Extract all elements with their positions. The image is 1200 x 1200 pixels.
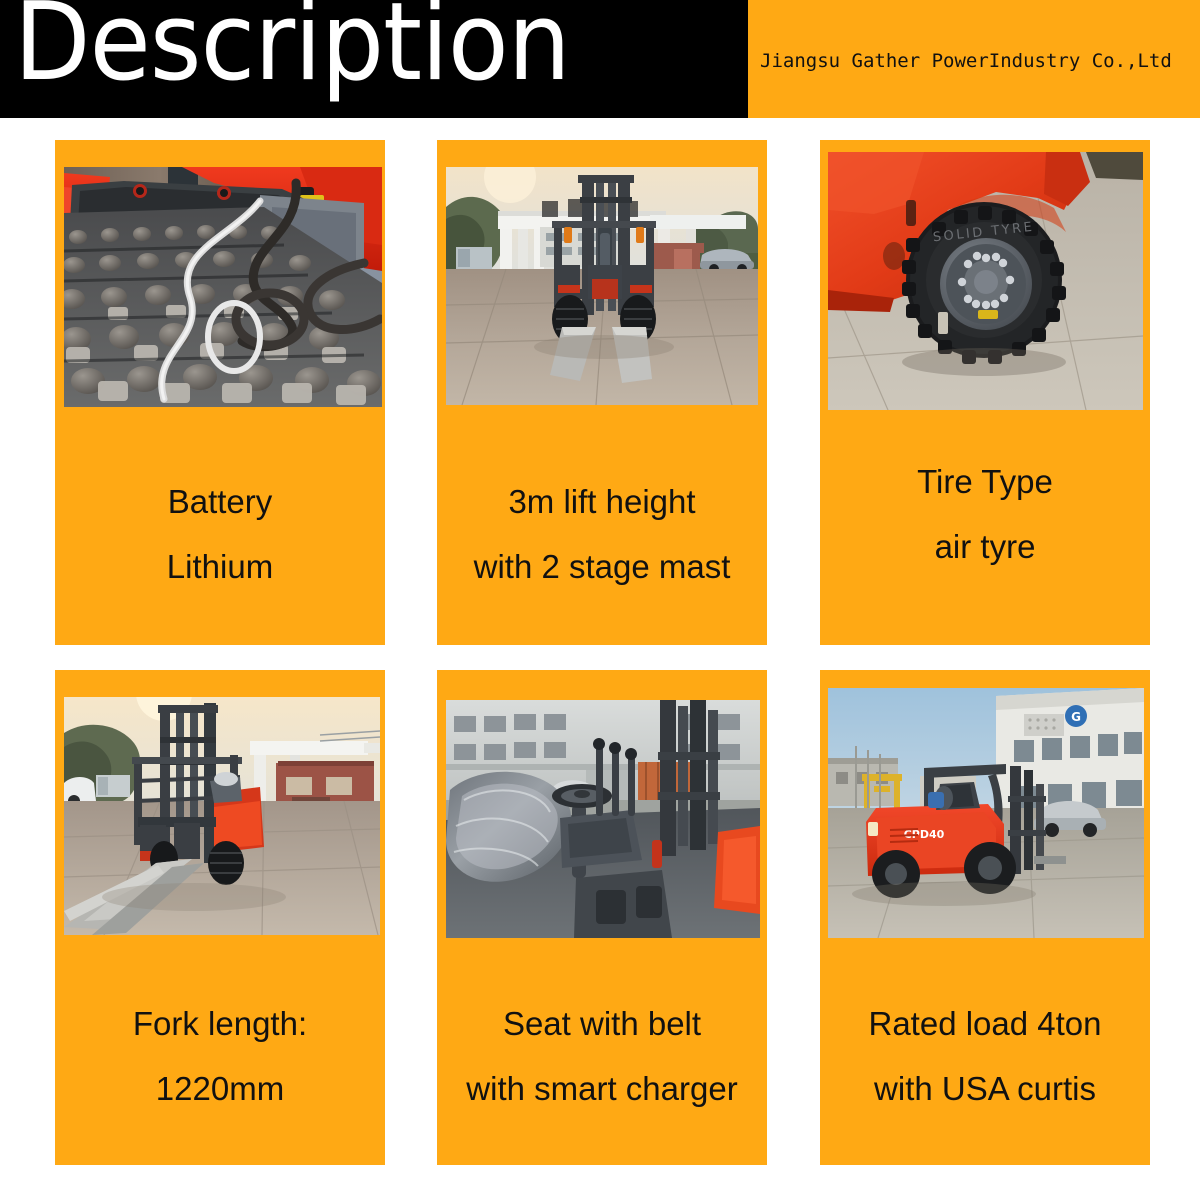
header-black-bar: Description	[0, 0, 748, 118]
caption-line-2: 1220mm	[55, 1057, 385, 1121]
caption-line-2: air tyre	[820, 515, 1150, 579]
caption-line-1: Battery	[55, 470, 385, 534]
caption-line-1: Fork length:	[55, 992, 385, 1056]
caption-line-1: Tire Type	[820, 450, 1150, 514]
header-accent-bar: Jiangsu Gather PowerIndustry Co.,Ltd	[748, 0, 1200, 118]
forklift-operator-seat-photo	[446, 700, 760, 938]
feature-card-battery[interactable]: Battery Lithium	[55, 140, 385, 645]
caption-line-1: 3m lift height	[437, 470, 767, 534]
page-title: Description	[14, 0, 570, 102]
feature-card-grid: Battery Lithium	[0, 118, 1200, 1200]
caption-line-2: with 2 stage mast	[437, 535, 767, 599]
feature-card-seat[interactable]: Seat with belt with smart charger	[437, 670, 767, 1165]
svg-text:G: G	[1071, 710, 1081, 724]
forklift-side-view-photo: G	[828, 688, 1144, 938]
forklift-battery-compartment-photo	[64, 167, 382, 407]
caption-line-1: Seat with belt	[437, 992, 767, 1056]
description-page: Description Jiangsu Gather PowerIndustry…	[0, 0, 1200, 1200]
feature-card-fork-length[interactable]: Fork length: 1220mm	[55, 670, 385, 1165]
company-name: Jiangsu Gather PowerIndustry Co.,Ltd	[760, 50, 1172, 72]
feature-card-rated-load[interactable]: G	[820, 670, 1150, 1165]
feature-card-tire-type[interactable]: SOLID TYRE	[820, 140, 1150, 645]
caption-line-1: Rated load 4ton	[820, 992, 1150, 1056]
forklift-solid-tyre-closeup-photo: SOLID TYRE	[828, 152, 1143, 410]
caption-line-2: with USA curtis	[820, 1057, 1150, 1121]
caption-line-2: with smart charger	[437, 1057, 767, 1121]
forklift-long-forks-photo	[64, 697, 380, 935]
feature-card-lift-height[interactable]: 3m lift height with 2 stage mast	[437, 140, 767, 645]
page-header: Description Jiangsu Gather PowerIndustry…	[0, 0, 1200, 118]
forklift-front-view-mast-photo	[446, 167, 758, 405]
caption-line-2: Lithium	[55, 535, 385, 599]
